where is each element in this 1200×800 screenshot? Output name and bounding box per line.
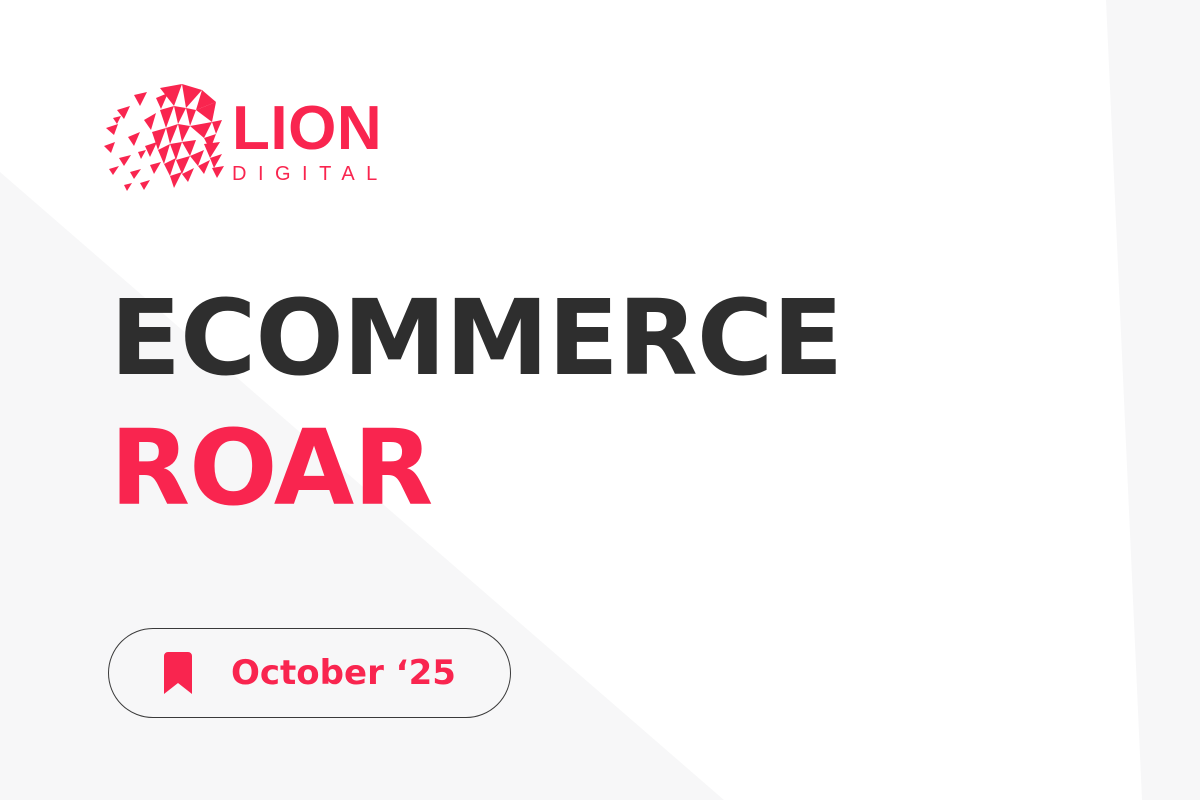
brand-logo-lockup: LION DIGITAL xyxy=(104,78,414,200)
headline-line-primary: ECOMMERCE xyxy=(110,286,1010,390)
bookmark-icon xyxy=(161,652,195,694)
date-badge-label: October ‘25 xyxy=(231,653,456,693)
cover-headline: ECOMMERCE ROAR xyxy=(110,286,1010,520)
brand-wordmark: LION DIGITAL xyxy=(232,94,389,184)
report-cover: LION DIGITAL ECOMMERCE ROAR October ‘25 xyxy=(0,0,1200,800)
date-badge[interactable]: October ‘25 xyxy=(108,628,511,718)
brand-name-secondary: DIGITAL xyxy=(232,164,389,184)
lion-head-polygon-icon xyxy=(104,80,226,198)
brand-name-primary: LION xyxy=(232,100,389,157)
headline-line-accent: ROAR xyxy=(110,416,1010,520)
